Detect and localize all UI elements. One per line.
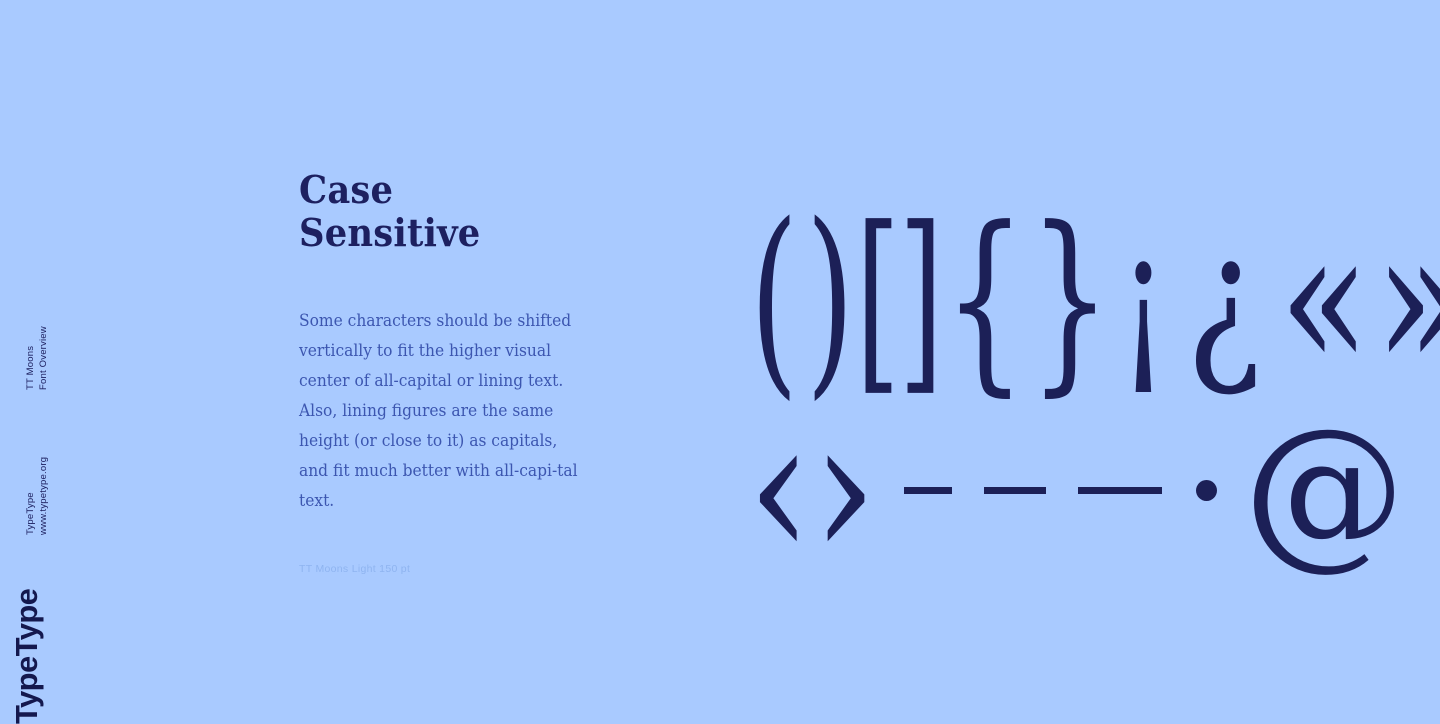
glyph-bracket-right: ] <box>898 202 925 398</box>
document-meta: TT Moons Font Overview <box>25 326 50 390</box>
brand-meta-website[interactable]: www.typetype.org <box>38 457 51 535</box>
text-column: Case Sensitive Some characters should be… <box>299 168 619 254</box>
brand-meta: TypeType www.typetype.org <box>25 457 50 535</box>
glyph-specimen: ( ) [ ] { } ¡ ¿ « » ‹ › @ <box>740 200 1340 580</box>
glyph-guillemet-left: « <box>1279 204 1369 395</box>
glyph-row-dashes-and-symbols: ‹ › @ <box>740 410 1405 570</box>
page-title: Case Sensitive <box>299 168 597 254</box>
left-rail: TT Moons Font Overview TypeType www.type… <box>0 0 110 720</box>
document-meta-line1: TT Moons <box>25 326 38 390</box>
typetype-logo: TypeType <box>9 589 45 724</box>
brand-meta-line1: TypeType <box>25 457 38 535</box>
glyph-single-guillemet-left: ‹ <box>748 394 812 586</box>
glyph-hyphen <box>904 487 952 494</box>
glyph-en-dash <box>984 487 1046 494</box>
description-paragraph: Some characters should be shifted vertic… <box>299 306 580 516</box>
glyph-single-guillemet-right: › <box>813 394 877 586</box>
glyph-em-dash <box>1078 487 1162 494</box>
glyph-bracket-left: [ <box>856 202 883 398</box>
page-title-line1: Case <box>299 168 597 211</box>
glyph-guillemet-right: » <box>1375 204 1440 395</box>
glyph-brace-right: } <box>1028 202 1093 398</box>
glyph-at-sign: @ <box>1243 407 1405 572</box>
glyph-paren-right: ) <box>806 198 838 402</box>
specimen-caption: TT Moons Light 150 pt <box>299 563 410 575</box>
page-title-line2: Sensitive <box>299 211 597 254</box>
document-meta-line2: Font Overview <box>38 326 51 390</box>
glyph-inverted-exclamation: ¡ <box>1119 212 1169 388</box>
glyph-brace-left: { <box>944 202 1009 398</box>
glyph-row-brackets-and-marks: ( ) [ ] { } ¡ ¿ « » <box>740 200 1440 400</box>
glyph-inverted-question: ¿ <box>1187 212 1262 388</box>
glyph-paren-left: ( <box>750 198 782 402</box>
specimen-page: TT Moons Font Overview TypeType www.type… <box>0 0 1440 720</box>
glyph-bullet <box>1196 480 1217 501</box>
